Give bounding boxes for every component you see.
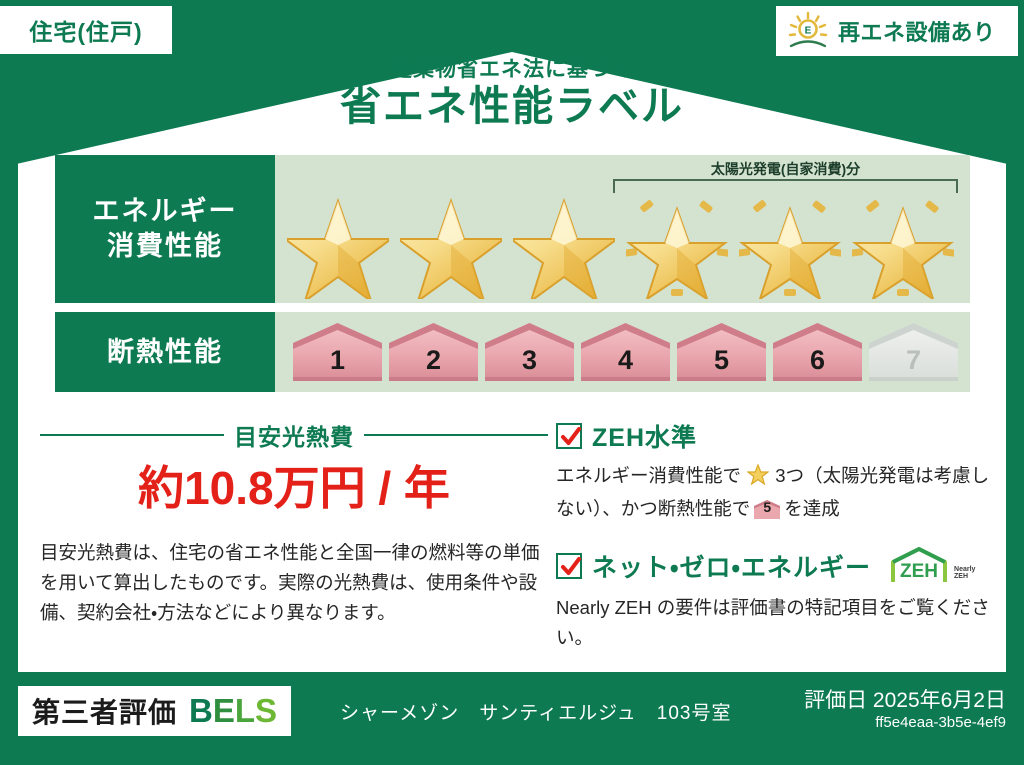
insulation-level-4: 4 — [579, 321, 672, 383]
renewable-equipment-badge: E 再エネ設備あり — [776, 6, 1018, 56]
energy-performance-body: 太陽光発電(自家消費)分 — [275, 155, 970, 303]
insulation-level-2: 2 — [387, 321, 480, 383]
svg-text:ZEH: ZEH — [900, 561, 938, 582]
insulation-performance-body: 1 2 — [275, 312, 970, 392]
category-chip-label: 住宅(住戸) — [29, 13, 142, 47]
insulation-level-6: 6 — [771, 321, 864, 383]
heading-rule-right — [364, 434, 548, 436]
inline-house-level-icon: 5 — [753, 499, 781, 520]
bels-japanese-label: 第三者評価 — [32, 691, 177, 731]
inline-star-icon — [742, 468, 774, 489]
energy-performance-label-cell: エネルギー 消費性能 — [55, 155, 275, 303]
insulation-level-3-number: 3 — [522, 345, 537, 383]
zeh-standard-title: ZEH水準 — [592, 418, 697, 454]
insulation-level-5: 5 — [675, 321, 768, 383]
utility-cost-note: 目安光熱費は、住宅の省エネ性能と全国一律の燃料等の単価を用いて算出したものです。… — [40, 538, 548, 628]
insulation-level-7: 7 — [867, 321, 960, 383]
zeh-desc-star-count: 3つ（太陽光発電 — [775, 465, 915, 486]
header-title: 省エネ性能ラベル — [0, 83, 1024, 130]
utility-cost-heading-label: 目安光熱費 — [234, 418, 354, 452]
insulation-level-1-number: 1 — [330, 345, 345, 383]
insulation-performance-row: 断熱性能 — [55, 312, 970, 392]
zeh-standard-checkbox[interactable] — [556, 423, 582, 449]
net-zero-header: ネット・ゼロ・エネルギー ZEH Nearly ZEH — [556, 546, 990, 586]
star-1 — [287, 187, 389, 299]
sun-solar-icon: E — [786, 11, 830, 51]
net-zero-description: Nearly ZEH の要件は評価書の特記項目をご覧ください。 — [556, 593, 990, 653]
evaluation-date: 評価日 2025年6月2日 — [804, 684, 1006, 714]
standards-column: ZEH水準 エネルギー消費性能で 3つ（太陽光発電は考慮しない）、かつ断熱性能で… — [548, 418, 990, 648]
energy-label-line2: 消費性能 — [107, 229, 223, 264]
star-4-solar — [626, 187, 728, 299]
label-details-section: 目安光熱費 約10.8万円 / 年 目安光熱費は、住宅の省エネ性能と全国一律の燃… — [40, 418, 990, 648]
star-2 — [400, 187, 502, 299]
utility-cost-value: 約10.8万円 / 年 — [40, 464, 548, 512]
net-zero-checkbox[interactable] — [556, 553, 582, 579]
zeh-desc-part3: を達成 — [784, 498, 840, 519]
zeh-logo-sub-line2: ZEH — [954, 573, 968, 580]
bels-certification-chip: 第三者評価 BELS — [18, 686, 291, 736]
evaluation-id: ff5e4eaa-3b5e-4ef9 — [875, 714, 1006, 731]
heading-rule-left — [40, 434, 224, 436]
insulation-level-6-number: 6 — [810, 345, 825, 383]
insulation-level-5-number: 5 — [714, 345, 729, 383]
property-name: シャーメゾン サンティエルジュ 103号室 — [340, 698, 731, 725]
solar-generation-note: 太陽光発電(自家消費)分 — [613, 159, 958, 179]
insulation-level-4-number: 4 — [618, 345, 633, 383]
star-rating-group — [275, 187, 970, 299]
insulation-level-3: 3 — [483, 321, 576, 383]
insulation-level-group: 1 2 — [275, 312, 970, 392]
category-chip: 住宅(住戸) — [0, 6, 172, 54]
zeh-standard-header: ZEH水準 — [556, 418, 990, 454]
insulation-performance-label-cell: 断熱性能 — [55, 312, 275, 392]
label-footer: 第三者評価 BELS シャーメゾン サンティエルジュ 103号室 評価日 202… — [0, 672, 1024, 765]
insulation-level-2-number: 2 — [426, 345, 441, 383]
utility-cost-column: 目安光熱費 約10.8万円 / 年 目安光熱費は、住宅の省エネ性能と全国一律の燃… — [40, 418, 548, 648]
energy-performance-label: 住宅(住戸) E 再エネ設備あり 建築物省エネ法に基づ — [0, 0, 1024, 765]
zeh-desc-part1: エネルギー消費性能で — [556, 465, 741, 486]
svg-text:E: E — [805, 26, 812, 37]
utility-cost-heading: 目安光熱費 — [40, 418, 548, 452]
renewable-badge-label: 再エネ設備あり — [838, 15, 996, 47]
net-zero-title: ネット・ゼロ・エネルギー — [592, 548, 871, 584]
insulation-level-7-number: 7 — [906, 345, 921, 383]
zeh-standard-description: エネルギー消費性能で 3つ（太陽光発電は考慮しない）、かつ断熱性能で 5 を達成 — [556, 461, 990, 524]
zeh-logo-sub-line1: Nearly — [954, 566, 975, 573]
inline-house-level-number: 5 — [753, 499, 781, 520]
star-5-solar — [739, 187, 841, 299]
insulation-level-1: 1 — [291, 321, 384, 383]
header-subtitle: 建築物省エネ法に基づく — [0, 58, 1024, 81]
ratings-section: エネルギー 消費性能 太陽光発電(自家消費)分 — [55, 155, 970, 392]
bels-logo-text: BELS — [189, 692, 277, 730]
insulation-label: 断熱性能 — [107, 335, 223, 370]
zeh-logo-icon: ZEH Nearly ZEH — [887, 546, 975, 586]
star-6-solar — [852, 187, 954, 299]
star-3 — [513, 187, 615, 299]
energy-performance-row: エネルギー 消費性能 太陽光発電(自家消費)分 — [55, 155, 970, 303]
label-header: 建築物省エネ法に基づく 省エネ性能ラベル — [0, 58, 1024, 130]
energy-label-line1: エネルギー — [93, 194, 238, 229]
